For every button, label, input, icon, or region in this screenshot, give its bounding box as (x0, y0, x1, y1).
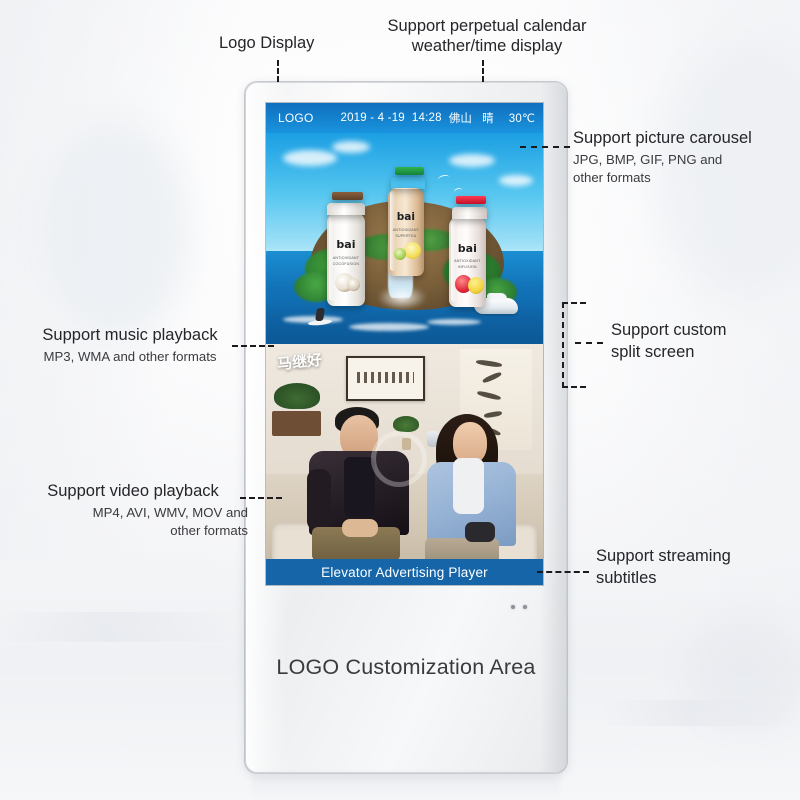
status-bar: LOGO 2019 - 4 -19 14:28 佛山 晴 30℃ (266, 103, 543, 133)
subtitle-bar: Elevator Advertising Player (266, 559, 543, 585)
bottle-brand: bai (327, 239, 365, 250)
ad-cloud (499, 175, 533, 186)
bottle-fruit (468, 277, 484, 294)
bottle-sub-1: ANTIOXIDANT (388, 228, 424, 232)
ink-stroke (476, 359, 502, 368)
callout-streaming-subtitles: Support streaming subtitles (596, 546, 786, 589)
status-bar-weather-condition: 晴 (482, 110, 494, 126)
callout-music-playback: Support music playback MP3, WMA and othe… (14, 325, 246, 366)
framed-ink (357, 372, 414, 383)
bottle-cap (332, 192, 363, 200)
callout-carousel-title: Support picture carousel (573, 128, 795, 148)
callout-video-playback: Support video playback MP4, AVI, WMV, MO… (18, 481, 248, 539)
bottle-sub-1: ANTIOXIDANT (327, 256, 365, 260)
callout-split-screen-title-2: split screen (611, 342, 791, 362)
ad-boat-cabin (487, 293, 507, 300)
callout-subtitles-title-1: Support streaming (596, 546, 786, 566)
man-hands (342, 519, 378, 537)
background-blob (40, 120, 190, 340)
bottle-neck (452, 207, 487, 219)
callout-carousel-sub-1: JPG, BMP, GIF, PNG and (573, 151, 795, 168)
callout-logo-display-title: Logo Display (219, 33, 314, 53)
video-watermark-ring (371, 431, 427, 487)
callout-video-title: Support video playback (18, 481, 248, 501)
leader-line-subtitles (537, 571, 589, 573)
ad-waterfall-spray (377, 285, 427, 310)
bottle-brand: bai (388, 212, 424, 223)
video-panel[interactable]: 马继好 Elevator Advertising Player (266, 344, 543, 585)
video-framed-picture (346, 356, 425, 401)
bottle-fruit (394, 248, 406, 260)
callout-split-screen: Support custom split screen (611, 320, 791, 363)
bottle-neck (327, 203, 365, 215)
ad-cloud (449, 154, 495, 167)
ink-stroke (477, 391, 501, 402)
status-bar-logo: LOGO (278, 111, 313, 125)
leader-line-music (232, 345, 274, 347)
product-bottle: bai ANTIOXIDANT INFUSION (449, 217, 486, 307)
leader-line-video (240, 497, 282, 499)
woman-phone (465, 522, 495, 542)
woman-top (453, 458, 485, 514)
screenshot-stage: LOGO 2019 - 4 -19 14:28 佛山 晴 30℃ (0, 0, 800, 800)
man-arm (307, 469, 331, 531)
bottle-sub-2: SUPERTEA (388, 234, 424, 238)
leader-line-calendar (482, 60, 484, 82)
picture-carousel-panel[interactable]: bai ANTIOXIDANT COCOFUSION bai ANTIOXIDA… (266, 133, 543, 344)
display-screen[interactable]: LOGO 2019 - 4 -19 14:28 佛山 晴 30℃ (266, 103, 543, 585)
callout-logo-display: Logo Display (219, 33, 314, 53)
bottle-sub-1: ANTIOXIDANT (449, 259, 486, 263)
kiosk-floor-reflection (252, 773, 560, 799)
bottle-sub-2: INFUSION (449, 265, 486, 269)
indicator-dot (523, 605, 527, 609)
background-blob (690, 620, 800, 730)
status-bar-temperature: 30℃ (509, 111, 535, 125)
bottle-cap (456, 196, 486, 204)
status-bar-info: 2019 - 4 -19 14:28 佛山 晴 30℃ (340, 110, 535, 126)
video-plant (274, 383, 320, 409)
callout-video-sub-2: other formats (18, 522, 248, 539)
man-shirt (344, 457, 374, 517)
callout-split-screen-title-1: Support custom (611, 320, 791, 340)
ad-wave (427, 319, 481, 325)
bottle-brand: bai (449, 243, 486, 254)
ad-cloud (283, 150, 337, 166)
callout-subtitles-title-2: subtitles (596, 568, 786, 588)
background-streak (0, 612, 240, 642)
leader-line-split-screen (575, 342, 603, 344)
bottle-cap (395, 167, 424, 175)
leader-line-logo-display (277, 60, 279, 82)
callout-music-title: Support music playback (14, 325, 246, 345)
leader-line-carousel (520, 146, 570, 148)
ink-stroke (481, 371, 501, 384)
status-bar-time: 14:28 (412, 112, 442, 124)
logo-customization-area-label: LOGO Customization Area (245, 655, 567, 680)
bottle-fruit (404, 242, 421, 259)
indicator-dot (511, 605, 515, 609)
callout-calendar-title-1: Support perpetual calendar (376, 16, 598, 36)
callout-music-sub: MP3, WMA and other formats (14, 348, 246, 365)
callout-video-sub-1: MP4, AVI, WMV, MOV and (18, 504, 248, 521)
callout-carousel-sub-2: other formats (573, 169, 795, 186)
leader-bracket-split-screen (562, 302, 586, 388)
callout-picture-carousel: Support picture carousel JPG, BMP, GIF, … (573, 128, 795, 186)
product-bottle: bai ANTIOXIDANT SUPERTEA (388, 188, 424, 276)
status-bar-date: 2019 - 4 -19 (340, 112, 404, 124)
bottle-fruit (347, 278, 360, 291)
product-bottle: bai ANTIOXIDANT COCOFUSION (327, 213, 365, 306)
status-bar-city: 佛山 (449, 110, 472, 126)
callout-calendar-title-2: weather/time display (376, 36, 598, 56)
bottle-sub-2: COCOFUSION (327, 262, 365, 266)
callout-calendar: Support perpetual calendar weather/time … (376, 16, 598, 57)
bottle-neck (391, 177, 425, 189)
